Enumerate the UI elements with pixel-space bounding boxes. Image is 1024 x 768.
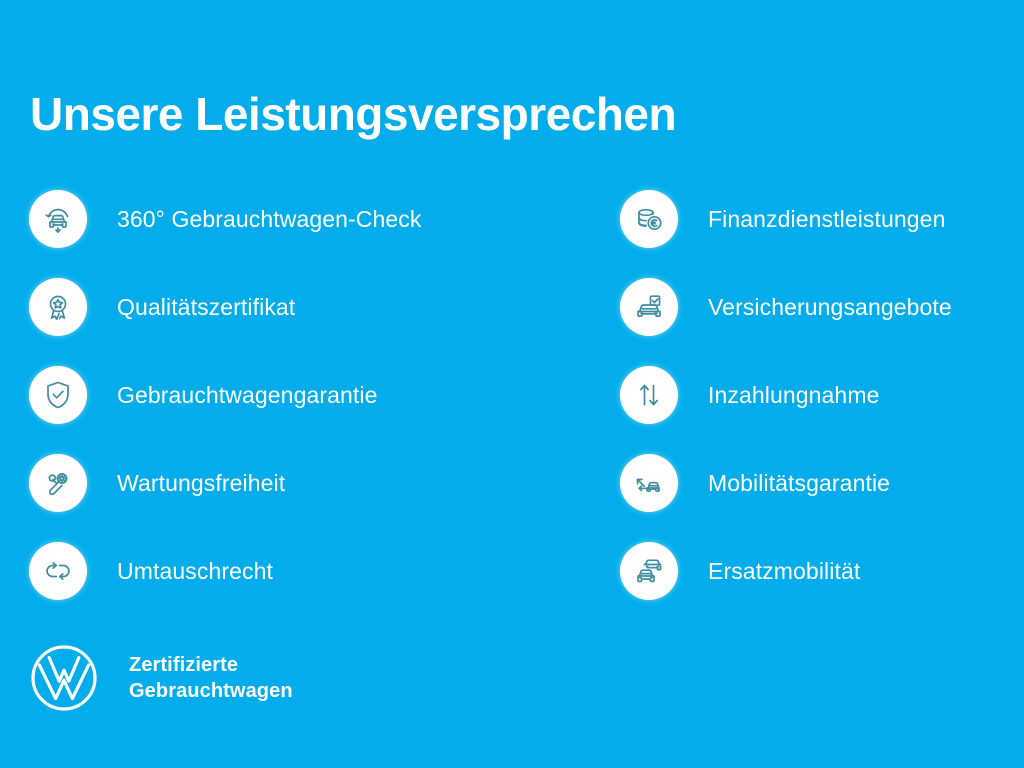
promise-item: 360° Gebrauchtwagen-Check: [29, 175, 589, 263]
promise-column-left: 360° Gebrauchtwagen-Check Qualitätszerti…: [29, 175, 589, 615]
promise-item: Inzahlungnahme: [620, 351, 1000, 439]
coins-euro-icon: [620, 190, 678, 248]
exchange-arrows-icon: [29, 542, 87, 600]
wrench-gear-icon: [29, 454, 87, 512]
promise-item: Versicherungsangebote: [620, 263, 1000, 351]
promise-column-right: Finanzdienstleistungen Versicherungsange…: [620, 175, 1000, 615]
promise-label: Ersatzmobilität: [708, 558, 860, 585]
brand-text: Zertifizierte Gebrauchtwagen: [129, 652, 293, 705]
page-title: Unsere Leistungsversprechen: [30, 89, 676, 140]
promise-item: Mobilitätsgarantie: [620, 439, 1000, 527]
promise-item: Gebrauchtwagengarantie: [29, 351, 589, 439]
promise-item: Wartungsfreiheit: [29, 439, 589, 527]
two-cars-icon: [620, 542, 678, 600]
up-down-arrows-icon: [620, 366, 678, 424]
promise-item: Ersatzmobilität: [620, 527, 1000, 615]
car-360-check-icon: [29, 190, 87, 248]
promise-label: 360° Gebrauchtwagen-Check: [117, 206, 422, 233]
promise-label: Mobilitätsgarantie: [708, 470, 890, 497]
brand-line-2: Gebrauchtwagen: [129, 678, 293, 704]
promise-grid: 360° Gebrauchtwagen-Check Qualitätszerti…: [0, 175, 1024, 615]
car-document-check-icon: [620, 278, 678, 336]
promise-label: Inzahlungnahme: [708, 382, 879, 409]
promise-item: Finanzdienstleistungen: [620, 175, 1000, 263]
promise-label: Versicherungsangebote: [708, 294, 952, 321]
brand-line-1: Zertifizierte: [129, 652, 293, 678]
quality-rosette-icon: [29, 278, 87, 336]
promise-label: Wartungsfreiheit: [117, 470, 285, 497]
promises-slide: Unsere Leistungsversprechen: [0, 0, 1024, 768]
volkswagen-logo: [29, 643, 99, 713]
tow-truck-icon: [620, 454, 678, 512]
promise-item: Umtauschrecht: [29, 527, 589, 615]
brand-lockup: Zertifizierte Gebrauchtwagen: [29, 643, 293, 713]
shield-check-icon: [29, 366, 87, 424]
promise-label: Qualitätszertifikat: [117, 294, 295, 321]
promise-label: Finanzdienstleistungen: [708, 206, 945, 233]
promise-label: Umtauschrecht: [117, 558, 273, 585]
promise-item: Qualitätszertifikat: [29, 263, 589, 351]
promise-label: Gebrauchtwagengarantie: [117, 382, 378, 409]
